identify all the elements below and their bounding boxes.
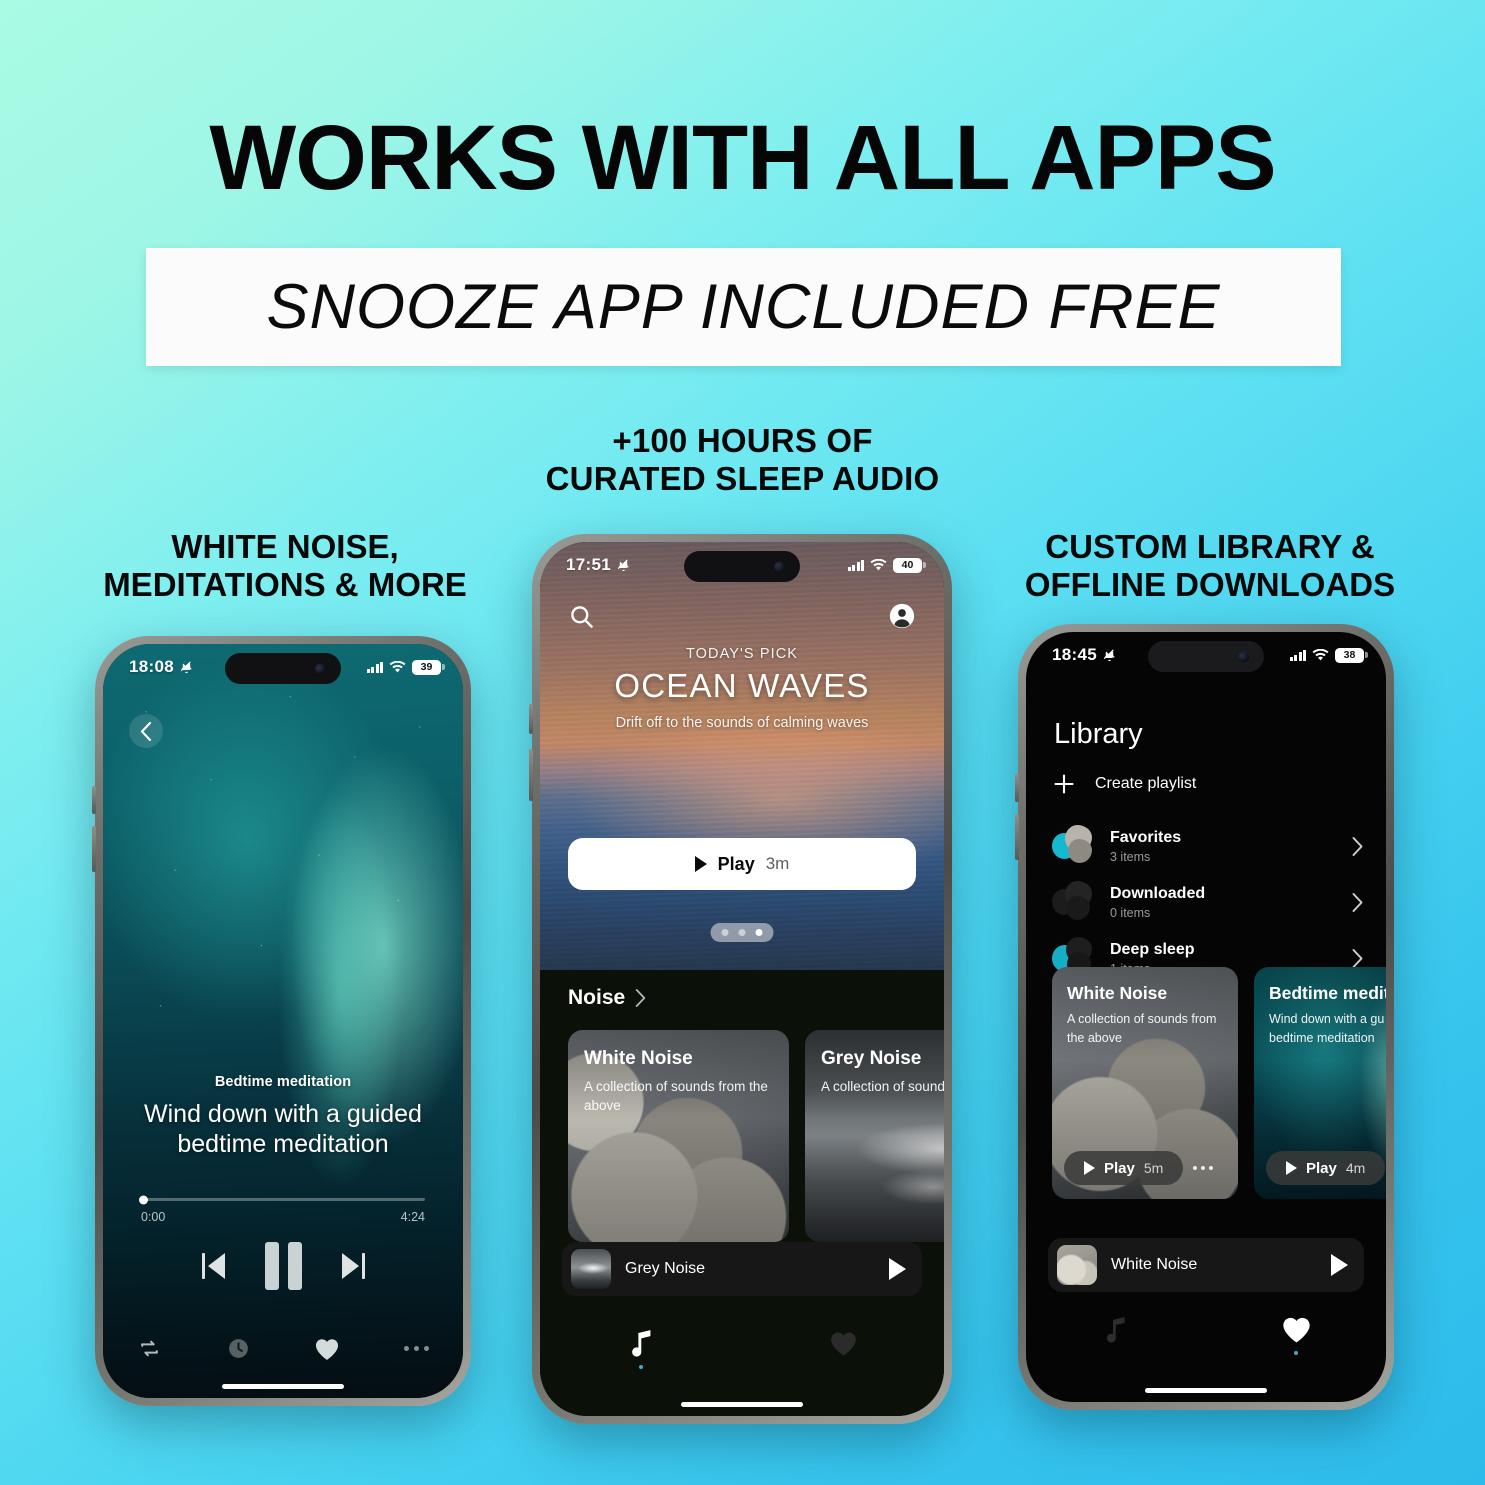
pagination-dot[interactable]	[722, 929, 729, 936]
chevron-right-icon	[1351, 893, 1364, 912]
volume-up-button[interactable]	[92, 786, 96, 814]
music-note-icon	[1103, 1316, 1129, 1344]
plus-icon	[1052, 772, 1076, 796]
library-card-bedtime-meditation[interactable]: Bedtime medit Wind down with a gu bedtim…	[1254, 967, 1386, 1199]
progress-slider[interactable]: 0:00 4:24	[141, 1198, 425, 1224]
subheading-center-line1: +100 HOURS OF	[0, 422, 1485, 460]
card-subtitle-line1: Wind down with a gu	[1269, 1011, 1386, 1029]
chevron-left-icon	[140, 722, 152, 741]
phone-right-library: 18:45 38 Library Create	[1018, 624, 1394, 1410]
chevron-right-icon	[1351, 949, 1364, 968]
play-icon	[1286, 1161, 1297, 1175]
card-subtitle-line1: A collection of sounds from	[1067, 1011, 1223, 1029]
promo-ribbon: SNOOZE APP INCLUDED FREE	[146, 248, 1341, 366]
bell-off-icon	[179, 660, 194, 675]
bell-off-icon	[1102, 648, 1117, 663]
home-indicator	[681, 1402, 803, 1407]
card-play-label: Play	[1306, 1160, 1337, 1177]
volume-up-button[interactable]	[529, 704, 533, 734]
status-time: 17:51	[566, 555, 611, 575]
status-bar: 18:08 39	[103, 644, 463, 677]
home-indicator	[1145, 1388, 1267, 1393]
track-title: Wind down with a guided bedtime meditati…	[125, 1099, 441, 1159]
tab-bar	[540, 1320, 944, 1378]
card-subtitle: A collection of sounds from the above	[584, 1078, 773, 1115]
promo-ribbon-text: SNOOZE APP INCLUDED FREE	[267, 271, 1221, 343]
clock-timer-icon[interactable]	[226, 1336, 251, 1361]
card-play-button[interactable]: Play 5m	[1064, 1151, 1183, 1185]
pagination-dot[interactable]	[739, 929, 746, 936]
cellular-icon	[848, 559, 865, 571]
subheading-right-line1: CUSTOM LIBRARY &	[960, 528, 1460, 566]
card-title: Bedtime medit	[1269, 983, 1386, 1004]
create-playlist-label: Create playlist	[1095, 775, 1196, 793]
noise-section-title: Noise	[568, 986, 625, 1010]
battery-indicator: 40	[893, 558, 922, 573]
tab-music[interactable]	[1026, 1306, 1206, 1364]
progress-knob[interactable]	[139, 1195, 148, 1204]
player-utilities	[137, 1336, 429, 1361]
noise-card-white-noise[interactable]: White Noise A collection of sounds from …	[568, 1030, 789, 1242]
play-icon	[695, 856, 707, 872]
noise-card-grey-noise[interactable]: Grey Noise A collection of sound the abo…	[805, 1030, 944, 1242]
tab-active-dot	[1294, 1351, 1298, 1355]
progress-times: 0:00 4:24	[141, 1210, 425, 1224]
hero-text: TODAY'S PICK OCEAN WAVES Drift off to th…	[540, 646, 944, 731]
subheading-right-line2: OFFLINE DOWNLOADS	[960, 566, 1460, 604]
subheading-center: +100 HOURS OF CURATED SLEEP AUDIO	[0, 422, 1485, 499]
play-icon[interactable]	[1331, 1254, 1348, 1276]
cellular-icon	[1290, 649, 1307, 661]
elapsed-time: 0:00	[141, 1210, 165, 1224]
library-card-white-noise[interactable]: White Noise A collection of sounds from …	[1052, 967, 1238, 1199]
card-play-label: Play	[1104, 1160, 1135, 1177]
subheading-right: CUSTOM LIBRARY & OFFLINE DOWNLOADS	[960, 528, 1460, 605]
playlist-artwork	[1052, 825, 1094, 867]
mini-player[interactable]: White Noise	[1048, 1238, 1364, 1292]
chevron-right-icon	[634, 989, 647, 1007]
volume-down-button[interactable]	[529, 749, 533, 801]
tab-favorites[interactable]	[1206, 1306, 1386, 1364]
list-item-favorites[interactable]: Favorites 3 items	[1052, 818, 1364, 874]
noise-section-header[interactable]: Noise	[568, 986, 647, 1010]
playlist-list: Favorites 3 items Downloaded	[1052, 818, 1364, 986]
back-button[interactable]	[129, 714, 163, 748]
card-subtitle: A collection of sound the above	[821, 1078, 944, 1097]
heart-icon	[1281, 1315, 1312, 1344]
subheading-center-line2: CURATED SLEEP AUDIO	[0, 460, 1485, 498]
card-title: Grey Noise	[821, 1048, 944, 1070]
mini-player[interactable]: Grey Noise	[562, 1242, 922, 1296]
home-indicator	[222, 1384, 344, 1389]
subheading-left-line1: WHITE NOISE,	[40, 528, 530, 566]
create-playlist-button[interactable]: Create playlist	[1052, 772, 1360, 796]
more-horizontal-icon[interactable]	[404, 1346, 429, 1351]
hero-play-button[interactable]: Play 3m	[568, 838, 916, 890]
playlist-artwork	[1052, 881, 1094, 923]
hero-play-label: Play	[718, 854, 755, 875]
playlist-count: 0 items	[1110, 906, 1335, 920]
skip-next-icon[interactable]	[342, 1253, 365, 1279]
battery-indicator: 39	[412, 660, 441, 675]
status-bar: 17:51 40	[540, 542, 944, 575]
skip-previous-icon[interactable]	[202, 1253, 225, 1279]
tab-favorites[interactable]	[742, 1320, 944, 1378]
heart-filled-icon[interactable]	[314, 1337, 340, 1361]
repeat-icon[interactable]	[137, 1336, 162, 1361]
playlist-name: Downloaded	[1110, 885, 1335, 903]
promo-poster: WORKS WITH ALL APPS SNOOZE APP INCLUDED …	[0, 0, 1485, 1485]
mini-player-title: Grey Noise	[625, 1260, 875, 1278]
bell-off-icon	[616, 558, 631, 573]
list-item-downloaded[interactable]: Downloaded 0 items	[1052, 874, 1364, 930]
subheading-left-line2: MEDITATIONS & MORE	[40, 566, 530, 604]
page-title: Library	[1054, 718, 1143, 751]
play-icon[interactable]	[889, 1258, 906, 1280]
playlist-name: Deep sleep	[1110, 941, 1335, 959]
phone-center-home: 17:51 40	[532, 534, 952, 1424]
wifi-icon	[1312, 649, 1329, 662]
wifi-icon	[870, 559, 887, 572]
hero-subtitle: Drift off to the sounds of calming waves	[540, 715, 944, 731]
wifi-icon	[389, 661, 406, 674]
transport-controls	[103, 1242, 463, 1290]
status-time: 18:08	[129, 657, 174, 677]
mini-player-title: White Noise	[1111, 1256, 1317, 1274]
tab-music[interactable]	[540, 1320, 742, 1378]
playlist-count: 3 items	[1110, 850, 1335, 864]
library-card-list: White Noise A collection of sounds from …	[1052, 967, 1386, 1199]
card-play-duration: 5m	[1144, 1160, 1163, 1176]
mini-player-artwork	[1057, 1245, 1097, 1285]
heart-icon	[829, 1330, 858, 1357]
progress-track[interactable]	[141, 1198, 425, 1201]
more-horizontal-icon[interactable]	[1193, 1166, 1213, 1170]
pagination-dot-active[interactable]	[756, 929, 763, 936]
phone-left-now-playing: 18:08 39 Bedtim	[95, 636, 471, 1406]
status-bar: 18:45 38	[1026, 632, 1386, 665]
track-kicker: Bedtime meditation	[125, 1074, 441, 1090]
cellular-icon	[367, 661, 384, 673]
mini-player-artwork	[571, 1249, 611, 1289]
duration-time: 4:24	[401, 1210, 425, 1224]
tab-active-dot	[639, 1365, 643, 1369]
hero-play-duration: 3m	[766, 854, 790, 874]
tab-bar	[1026, 1306, 1386, 1364]
search-icon[interactable]	[568, 603, 595, 630]
volume-up-button[interactable]	[1015, 774, 1019, 802]
page-title: WORKS WITH ALL APPS	[0, 112, 1485, 204]
volume-down-button[interactable]	[1015, 814, 1019, 860]
battery-indicator: 38	[1335, 648, 1364, 663]
hero-toolbar	[540, 602, 944, 630]
now-playing-info: Bedtime meditation Wind down with a guid…	[103, 1074, 463, 1159]
play-icon	[1084, 1161, 1095, 1175]
card-title: White Noise	[584, 1048, 773, 1070]
subheading-left: WHITE NOISE, MEDITATIONS & MORE	[40, 528, 530, 605]
card-play-duration: 4m	[1346, 1160, 1365, 1176]
status-time: 18:45	[1052, 645, 1097, 665]
noise-card-list: White Noise A collection of sounds from …	[568, 1030, 944, 1242]
account-circle-icon[interactable]	[888, 602, 916, 630]
playlist-name: Favorites	[1110, 829, 1335, 847]
pause-icon[interactable]	[265, 1242, 302, 1290]
hero-title: OCEAN WAVES	[540, 667, 944, 705]
card-subtitle-line2: the above	[1067, 1030, 1223, 1048]
card-subtitle-line2: bedtime meditation	[1269, 1030, 1386, 1048]
card-title: White Noise	[1067, 983, 1223, 1004]
hero-kicker: TODAY'S PICK	[540, 646, 944, 662]
carousel-pagination[interactable]	[711, 923, 774, 942]
card-play-button[interactable]: Play 4m	[1266, 1151, 1385, 1185]
volume-down-button[interactable]	[92, 826, 96, 872]
chevron-right-icon	[1351, 837, 1364, 856]
music-note-icon	[628, 1329, 655, 1358]
